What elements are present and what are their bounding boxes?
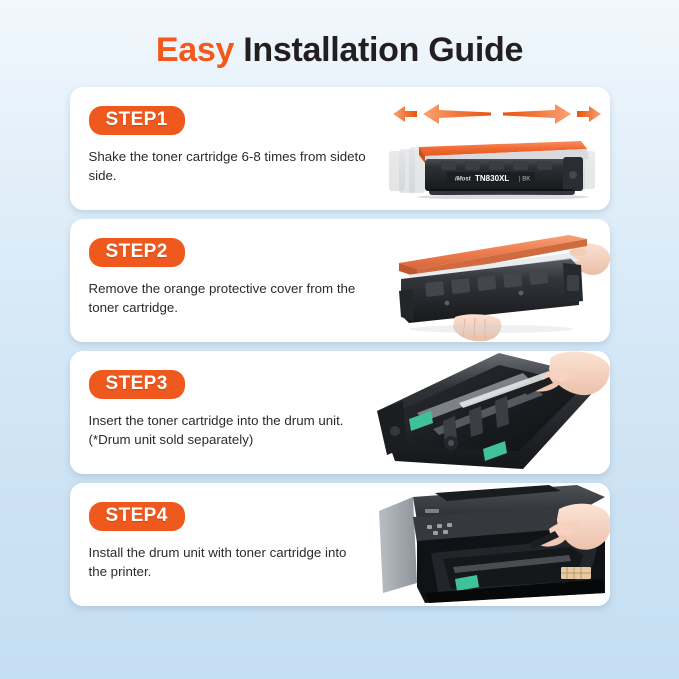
svg-text:iMost: iMost xyxy=(455,177,472,183)
step-badge-4: STEP4 xyxy=(89,502,185,531)
toner-cartridge-illustration: iMost TN830XL | BK xyxy=(385,129,607,199)
step-description-3: Insert the toner cartridge into the drum… xyxy=(89,412,369,450)
printer-illustration xyxy=(373,483,610,606)
shake-arrows-icon xyxy=(391,101,603,127)
steps-list: STEP1 Shake the toner cartridge 6-8 time… xyxy=(0,87,679,606)
step-3-image xyxy=(373,351,610,474)
step-badge-3: STEP3 xyxy=(89,370,185,399)
svg-text:TN830XL: TN830XL xyxy=(475,174,509,183)
step-3-text-block: STEP3 Insert the toner cartridge into th… xyxy=(70,351,373,474)
step-description-1: Shake the toner cartridge 6-8 times from… xyxy=(89,148,369,186)
step-card-3: STEP3 Insert the toner cartridge into th… xyxy=(70,351,610,474)
step-card-4: STEP4 Install the drum unit with toner c… xyxy=(70,483,610,606)
step-4-text-block: STEP4 Install the drum unit with toner c… xyxy=(70,483,373,606)
step-description-4: Install the drum unit with toner cartrid… xyxy=(89,544,369,582)
step-badge-2: STEP2 xyxy=(89,238,185,267)
step-description-2: Remove the orange protective cover from … xyxy=(89,280,369,318)
remove-cover-illustration xyxy=(373,219,610,342)
step-2-image xyxy=(373,219,610,342)
step-card-1: STEP1 Shake the toner cartridge 6-8 time… xyxy=(70,87,610,210)
step-4-image xyxy=(373,483,610,606)
step-1-text-block: STEP1 Shake the toner cartridge 6-8 time… xyxy=(70,87,373,210)
step-1-image: iMost TN830XL | BK xyxy=(373,87,610,210)
svg-text:| BK: | BK xyxy=(519,177,530,183)
step-badge-1: STEP1 xyxy=(89,106,185,135)
step-card-2: STEP2 Remove the orange protective cover… xyxy=(70,219,610,342)
page-title-accent: Easy xyxy=(156,31,234,69)
step-2-text-block: STEP2 Remove the orange protective cover… xyxy=(70,219,373,342)
page-title-rest: Installation Guide xyxy=(234,31,523,69)
page-title: Easy Installation Guide xyxy=(0,0,679,70)
drum-unit-illustration xyxy=(373,351,610,474)
